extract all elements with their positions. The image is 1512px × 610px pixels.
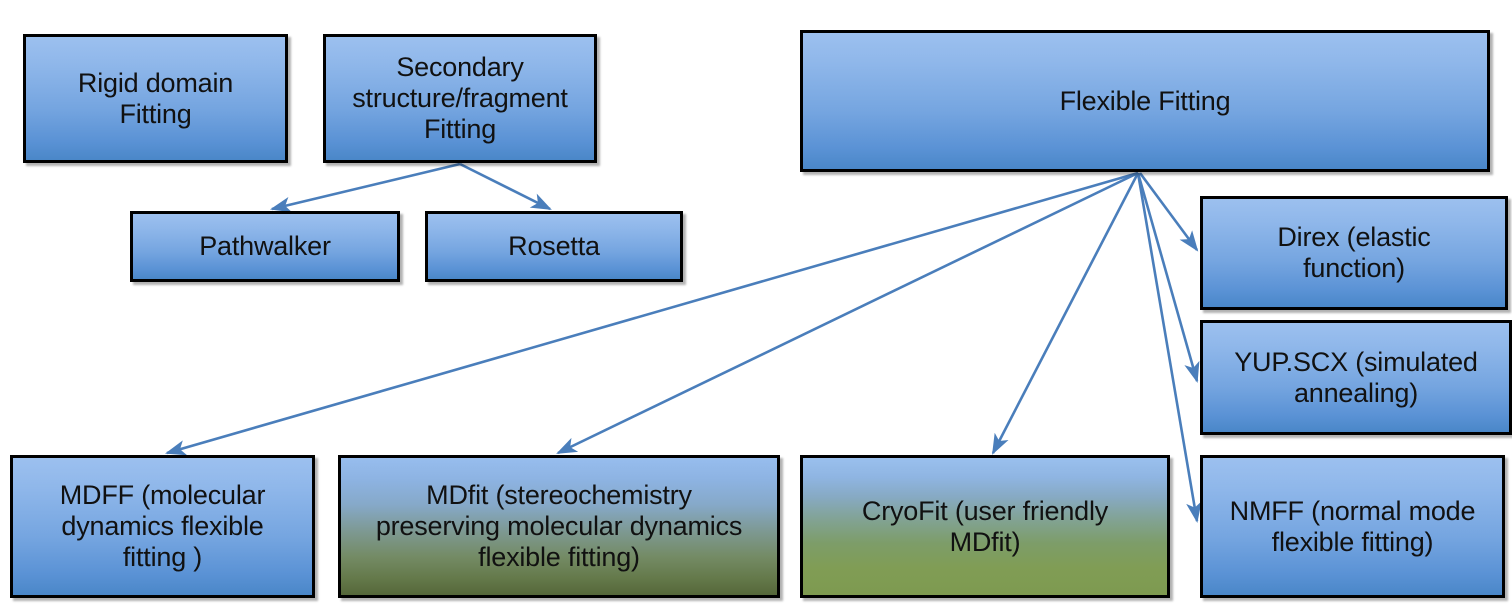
node-cryofit[interactable]: CryoFit (user friendly MDfit) [800, 455, 1170, 598]
node-mdfit[interactable]: MDfit (stereochemistry preserving molecu… [338, 455, 780, 598]
node-label: YUP.SCX (simulated annealing) [1234, 347, 1478, 409]
edge-secondary-to-pathwalker [272, 164, 460, 209]
node-nmff[interactable]: NMFF (normal mode flexible fitting) [1200, 455, 1505, 598]
node-secondary-structure-fragment-fitting[interactable]: Secondary structure/fragment Fitting [323, 34, 597, 163]
node-mdff[interactable]: MDFF (molecular dynamics flexible fittin… [10, 455, 315, 598]
node-rosetta[interactable]: Rosetta [425, 211, 683, 282]
node-label: MDFF (molecular dynamics flexible fittin… [60, 480, 266, 572]
diagram-canvas: Rigid domain FittingSecondary structure/… [0, 0, 1512, 610]
node-label: NMFF (normal mode flexible fitting) [1230, 496, 1476, 558]
node-label: CryoFit (user friendly MDfit) [862, 496, 1108, 558]
node-label: Direx (elastic function) [1277, 222, 1430, 284]
edge-flexible-to-cryofit [993, 173, 1138, 453]
node-label: Secondary structure/fragment Fitting [352, 52, 568, 144]
node-rigid-domain-fitting[interactable]: Rigid domain Fitting [23, 34, 288, 163]
node-direx[interactable]: Direx (elastic function) [1200, 196, 1508, 310]
node-label: Pathwalker [199, 231, 331, 262]
node-label: Rosetta [508, 231, 600, 262]
edge-flexible-to-direx [1140, 173, 1197, 250]
node-flexible-fitting[interactable]: Flexible Fitting [800, 30, 1490, 172]
edge-flexible-to-yupscx [1138, 173, 1197, 381]
node-label: Rigid domain Fitting [78, 68, 233, 130]
node-pathwalker[interactable]: Pathwalker [130, 211, 400, 282]
node-yup-scx[interactable]: YUP.SCX (simulated annealing) [1200, 320, 1512, 435]
node-label: Flexible Fitting [1060, 86, 1231, 117]
edge-secondary-to-rosetta [460, 164, 550, 209]
node-label: MDfit (stereochemistry preserving molecu… [376, 480, 742, 572]
